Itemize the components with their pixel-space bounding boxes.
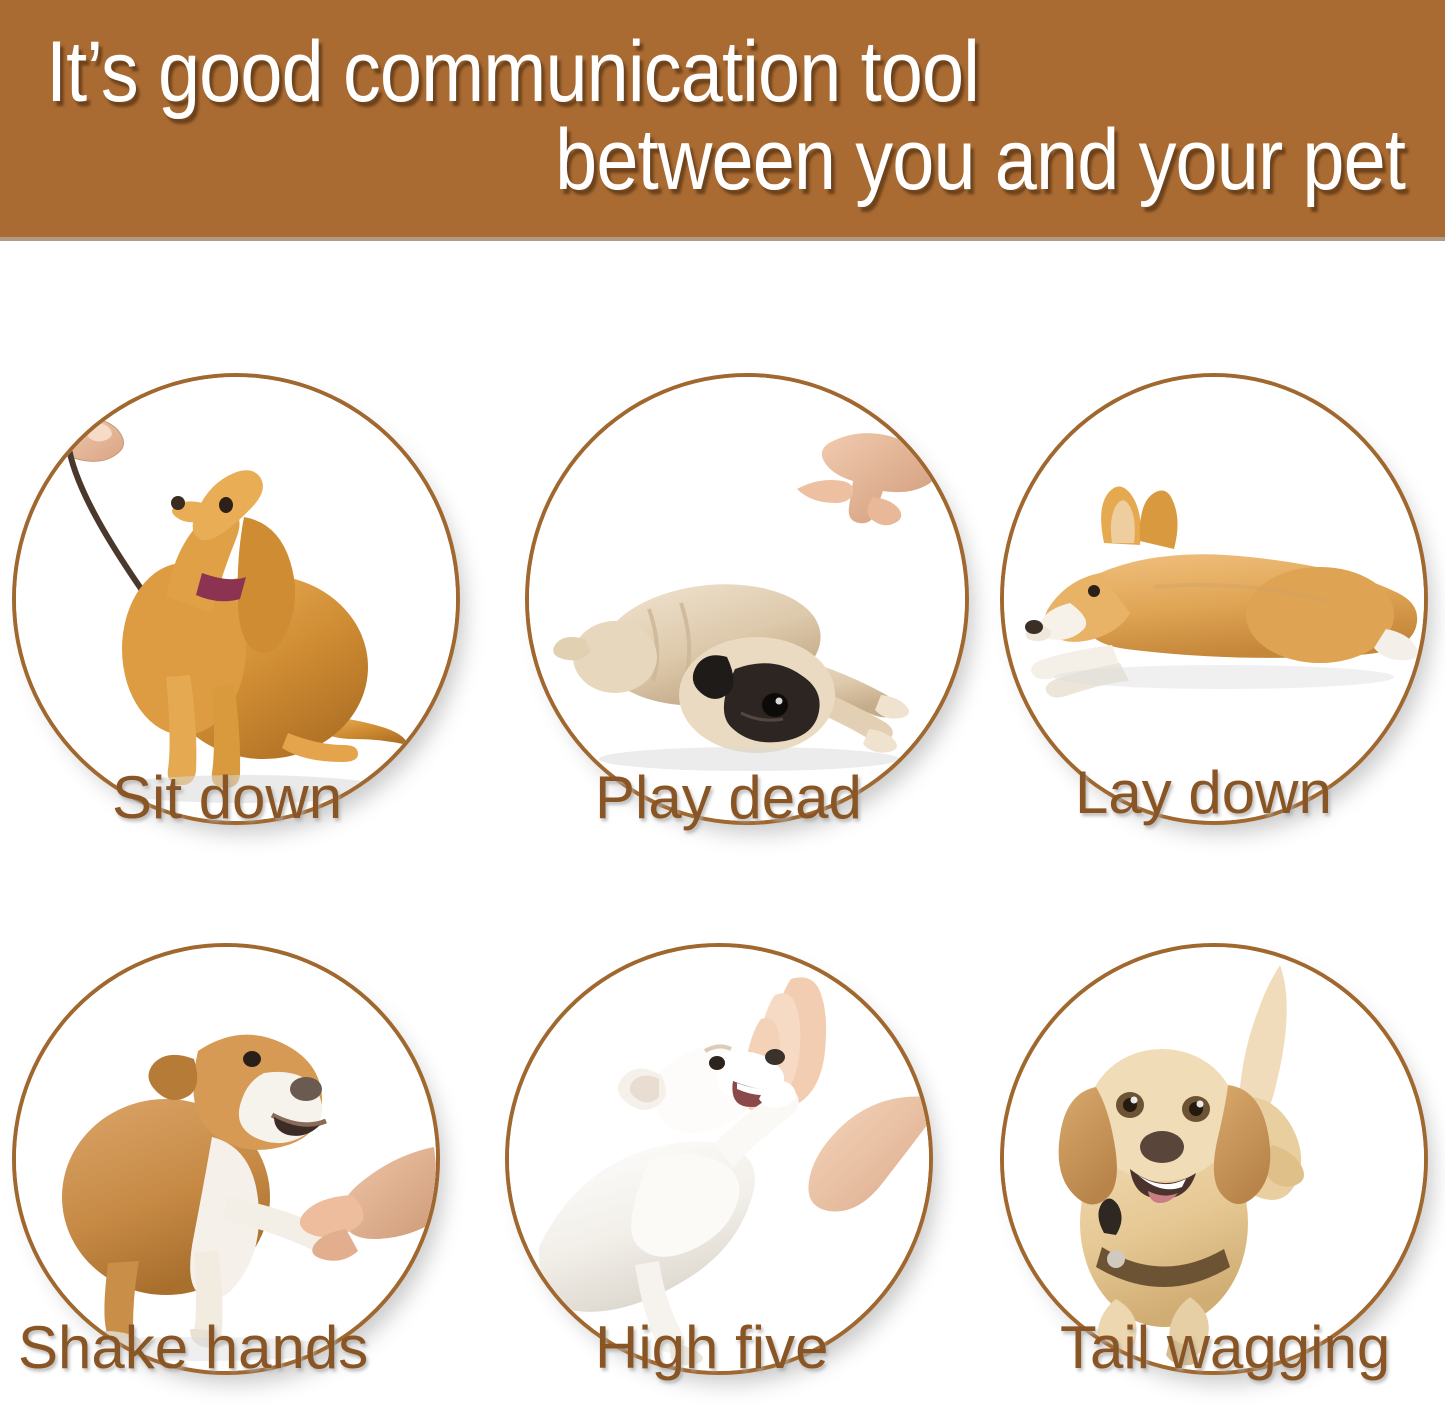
panel-shake-hands[interactable]: Shake hands — [12, 943, 462, 1413]
white-dog-high-five-with-hand-icon — [509, 947, 929, 1371]
corgi-lying-stretched-out-icon — [1004, 377, 1424, 821]
headline-block: It’s good communication tool between you… — [0, 0, 1445, 237]
dachshund-mix-looking-up-tail-raised-icon — [1004, 947, 1424, 1371]
headline-line-1: It’s good communication tool — [46, 29, 1242, 117]
panel-circle-sit-down — [12, 373, 460, 825]
feature-grid: Sit down — [0, 241, 1445, 1409]
panel-caption-shake-hands: Shake hands — [18, 1313, 368, 1382]
panel-sit-down[interactable]: Sit down — [12, 373, 462, 843]
bulldog-shaking-paw-with-human-hand-icon — [16, 947, 436, 1371]
panel-circle-tail-wagging — [1000, 943, 1428, 1375]
headline-line-2: between you and your pet — [209, 117, 1405, 205]
panel-circle-play-dead — [525, 373, 969, 825]
panel-caption-high-five: High five — [595, 1313, 828, 1382]
panel-caption-tail-wagging: Tail wagging — [1060, 1313, 1390, 1382]
panel-lay-down[interactable]: Lay down — [1000, 373, 1445, 843]
panel-circle-shake-hands — [12, 943, 440, 1375]
panel-circle-high-five — [505, 943, 933, 1375]
panel-play-dead[interactable]: Play dead — [525, 373, 975, 843]
panel-caption-lay-down: Lay down — [1075, 758, 1332, 827]
panel-high-five[interactable]: High five — [505, 943, 955, 1413]
panel-tail-wagging[interactable]: Tail wagging — [1000, 943, 1445, 1413]
panel-caption-sit-down: Sit down — [112, 763, 342, 832]
pug-lying-on-side-with-pointing-hand-icon — [529, 377, 965, 821]
panel-caption-play-dead: Play dead — [595, 763, 862, 832]
sitting-cocker-spaniel-with-treat-hand-icon — [16, 377, 456, 821]
